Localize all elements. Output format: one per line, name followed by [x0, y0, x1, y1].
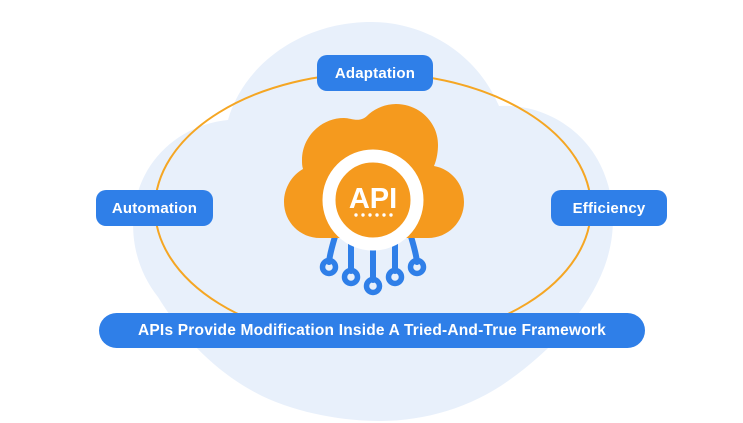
circuit-node-4 [389, 271, 402, 284]
cloud-shape [284, 104, 464, 238]
infographic-canvas: API Adaptation Automation Efficiency API… [0, 0, 743, 423]
badge-efficiency-label: Efficiency [573, 200, 646, 217]
api-label: API [349, 183, 397, 215]
badge-efficiency[interactable]: Efficiency [551, 190, 667, 226]
statement-banner-label: APIs Provide Modification Inside A Tried… [138, 322, 606, 340]
statement-banner[interactable]: APIs Provide Modification Inside A Tried… [99, 313, 645, 348]
circuit-node-3 [367, 280, 380, 293]
badge-adaptation[interactable]: Adaptation [317, 55, 433, 91]
badge-automation[interactable]: Automation [96, 190, 213, 226]
badge-adaptation-label: Adaptation [335, 65, 415, 82]
circuit-node-1 [323, 261, 336, 274]
circuit-node-2 [345, 271, 358, 284]
circuit-node-5 [411, 261, 424, 274]
badge-automation-label: Automation [112, 200, 197, 217]
